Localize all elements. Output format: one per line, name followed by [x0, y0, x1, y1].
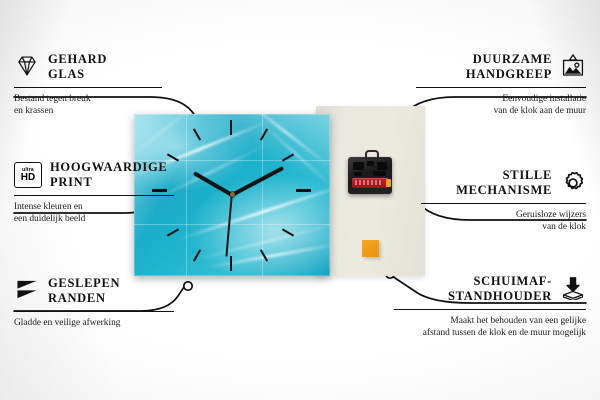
callout-stille-mechanisme: STILLE MECHANISME Geruisloze wijzers van… [421, 168, 586, 234]
callout-title: STILLE MECHANISME [456, 168, 552, 199]
callout-description: Eenvoudige installatie van de klok aan d… [416, 93, 586, 118]
callout-title: SCHUIMAF- STANDHOUDER [448, 274, 552, 305]
callout-description: Intense kleuren en een duidelijk beeld [14, 201, 174, 226]
clock-battery [352, 178, 388, 188]
gear-icon [560, 170, 586, 196]
clock-second-hand [226, 195, 233, 257]
callout-duurzame-handgreep: DUURZAME HANDGREEP Eenvoudige installati… [416, 52, 586, 118]
framed-picture-icon [560, 54, 586, 80]
divider [14, 87, 162, 88]
callout-hoogwaardige-print: ultra HD HOOGWAARDIGE PRINT Intense kleu… [14, 160, 174, 226]
divider [14, 311, 174, 312]
callout-geslepen-randen: GESLEPEN RANDEN Gladde en veilige afwerk… [14, 276, 174, 329]
foam-spacer-pad [362, 240, 379, 257]
callout-title: GESLEPEN RANDEN [48, 276, 120, 307]
callout-description: Bestand tegen breuk en krassen [14, 93, 162, 118]
arrow-down-pad-icon [560, 276, 586, 302]
divider [421, 203, 586, 204]
callout-description: Gladde en veilige afwerking [14, 317, 174, 329]
clock-center-hub [230, 192, 235, 197]
callout-gehard-glas: GEHARD GLAS Bestand tegen breuk en krass… [14, 52, 162, 118]
clock-hour-hand [193, 171, 233, 196]
product-photo [130, 100, 425, 282]
diamond-icon [14, 54, 40, 80]
diagonal-lines-icon [14, 278, 40, 304]
ultra-hd-badge-icon: ultra HD [14, 162, 42, 188]
clock-mechanism [348, 157, 392, 194]
divider [416, 87, 586, 88]
callout-title: GEHARD GLAS [48, 52, 107, 83]
callout-title: HOOGWAARDIGE PRINT [50, 160, 167, 191]
connector-dot-geslepen-randen [184, 282, 192, 290]
divider [394, 309, 586, 310]
callout-description: Geruisloze wijzers van de klok [421, 209, 586, 234]
divider [14, 195, 174, 196]
callout-title: DUURZAME HANDGREEP [466, 52, 552, 83]
callout-description: Maakt het behouden van een gelijke afsta… [394, 315, 586, 340]
infographic-canvas: GEHARD GLAS Bestand tegen breuk en krass… [0, 0, 600, 400]
callout-schuimaf-standhouder: SCHUIMAF- STANDHOUDER Maakt het behouden… [394, 274, 586, 340]
clock-minute-hand [231, 166, 284, 197]
